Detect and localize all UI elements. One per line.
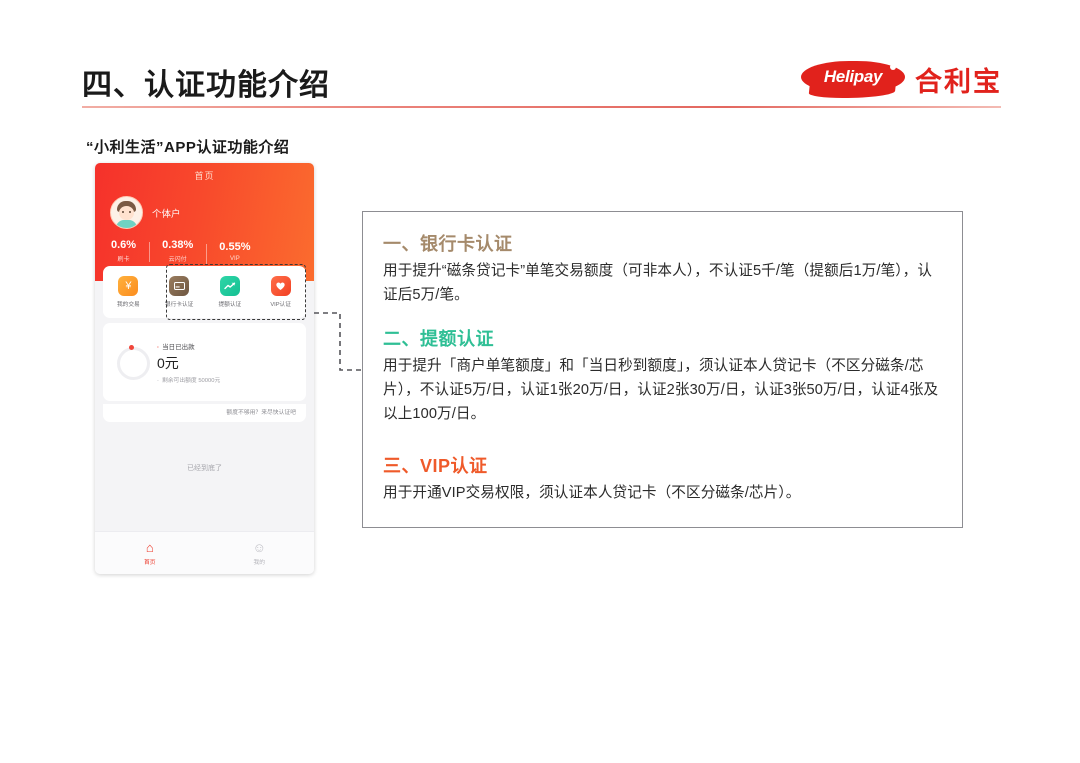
quick-action-label: 我的交易 [107,299,149,308]
stat-value: 0.6% [111,239,136,252]
stat-value: 0.38% [162,239,193,252]
daily-amount-card: 当日已出款 0元 剩余可出额度 50000元 [103,323,306,401]
tab-label: 我的 [253,557,265,566]
tab-home[interactable]: ⌂ 首页 [95,532,205,574]
amount-tip-text: 额度不够用？来尽快认证吧 [226,407,296,416]
info-box: 一、银行卡认证 用于提升“磁条贷记卡”单笔交易额度（可非本人），不认证5千/笔（… [362,211,963,528]
amount-remaining: 剩余可出额度 50000元 [157,375,220,384]
phone-mockup: 首页 个体户 0.6% 刷卡 0.38% 云闪付 [95,163,314,574]
money-icon: ¥ [118,276,138,296]
stat-label: 刷卡 [111,254,136,263]
stat-label: VIP [219,256,250,262]
info-section-limit: 二、提额认证 用于提升「商户单笔额度」和「当日秒到额度」，须认证本人贷记卡（不区… [383,325,944,426]
progress-ring-icon [117,347,150,380]
section-heading: 一、银行卡认证 [383,230,944,256]
avatar-eye-right [129,211,131,213]
progress-dot [129,345,134,350]
section-body: 用于提升“磁条贷记卡”单笔交易额度（可非本人），不认证5千/笔（提额后1万/笔）… [383,259,944,307]
user-type-label: 个体户 [152,206,181,220]
section-heading: 三、VIP认证 [383,452,944,478]
quick-action-my-transactions[interactable]: ¥ 我的交易 [107,276,149,308]
info-section-bank-card: 一、银行卡认证 用于提升“磁条贷记卡”单笔交易额度（可非本人），不认证5千/笔（… [383,230,944,307]
avatar-body [116,220,137,229]
phone-user-row[interactable]: 个体户 [110,196,181,229]
amount-tip-row[interactable]: 额度不够用？来尽快认证吧 [103,404,306,422]
stat-item-card: 0.6% 刷卡 [111,239,149,263]
stat-item-vip: 0.55% VIP [206,241,263,262]
page-title: 四、认证功能介绍 [82,60,330,104]
header-divider [82,106,1001,108]
avatar-eye-left [122,211,124,213]
stat-label: 云闪付 [162,254,193,263]
section-subtitle: “小利生活”APP认证功能介绍 [86,136,289,157]
highlight-dashed-box [166,264,306,320]
tab-profile[interactable]: ☺ 我的 [205,532,315,574]
logo-chinese-name: 合利宝 [915,60,1002,99]
stat-item-unionpay: 0.38% 云闪付 [149,239,206,263]
slide-root: 四、认证功能介绍 Helipay 合利宝 “小利生活”APP认证功能介绍 首页 [0,0,1080,763]
brand-logo: Helipay 合利宝 [801,57,1002,101]
phone-stats-row: 0.6% 刷卡 0.38% 云闪付 0.55% VIP [111,239,263,263]
user-icon: ☺ [253,541,266,554]
connector-line [314,306,366,378]
phone-tabbar: ⌂ 首页 ☺ 我的 [95,531,314,574]
section-body: 用于开通VIP交易权限，须认证本人贷记卡（不区分磁条/芯片）。 [383,481,944,505]
stat-value: 0.55% [219,241,250,254]
avatar[interactable] [110,196,143,229]
helipay-logo-mark: Helipay [801,59,905,99]
phone-nav-title: 首页 [95,169,314,182]
amount-value: 0元 [157,353,179,373]
home-icon: ⌂ [146,541,154,554]
section-heading: 二、提额认证 [383,325,944,351]
quick-actions-card: ¥ 我的交易 银行卡认证 [103,266,306,318]
logo-dot-icon [890,64,896,70]
section-body: 用于提升「商户单笔额度」和「当日秒到额度」，须认证本人贷记卡（不区分磁条/芯片）… [383,354,944,426]
avatar-face [119,206,134,220]
info-section-vip: 三、VIP认证 用于开通VIP交易权限，须认证本人贷记卡（不区分磁条/芯片）。 [383,452,944,505]
list-end-text: 已经到底了 [95,463,314,473]
amount-label: 当日已出款 [157,341,195,351]
tab-label: 首页 [144,557,156,566]
